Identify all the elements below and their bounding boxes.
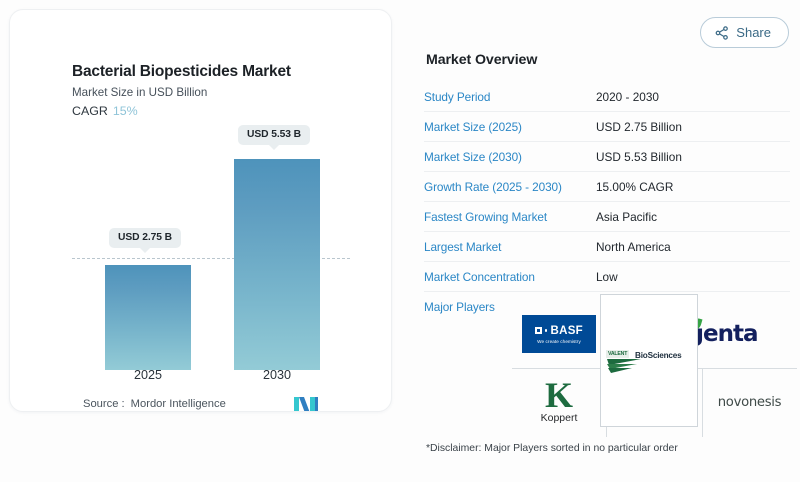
table-row: Market Concentration Low [424,262,790,292]
overview-table: Study Period 2020 - 2030 Market Size (20… [424,82,790,322]
source-label: Source : [83,398,125,410]
koppert-name: Koppert [541,412,578,424]
valent-swoosh-icon [607,358,647,374]
chart-subtitle: Market Size in USD Billion [72,86,207,99]
basf-logo: BASF We create chemistry [522,315,596,353]
major-players-grid: BASF We create chemistry syngenta K Kopp… [512,300,797,437]
bar-chart-plot: USD 2.75 B USD 5.53 B 2025 2030 [10,120,391,370]
row-value: Asia Pacific [596,210,657,224]
market-overview-panel: Market Overview Study Period 2020 - 2030… [424,0,800,482]
cagr-line: CAGR15% [72,104,138,118]
chart-card: Bacterial Biopesticides Market Market Si… [9,9,392,412]
row-key: Growth Rate (2025 - 2030) [424,180,596,194]
cagr-value: 15% [113,104,138,118]
table-row: Market Size (2030) USD 5.53 Billion [424,142,790,172]
x-tick-2030: 2030 [217,368,337,382]
basf-name: BASF [550,325,583,337]
table-row: Largest Market North America [424,232,790,262]
bar-2025[interactable] [105,265,191,370]
x-tick-2025: 2025 [88,368,208,382]
source-note: Source :Mordor Intelligence [83,398,226,410]
table-row: Study Period 2020 - 2030 [424,82,790,112]
table-row: Fastest Growing Market Asia Pacific [424,202,790,232]
row-value: USD 2.75 Billion [596,120,682,134]
chart-title: Bacterial Biopesticides Market [72,63,291,81]
data-label-2030: USD 5.53 B [238,125,310,145]
row-key: Largest Market [424,240,596,254]
page-root: Bacterial Biopesticides Market Market Si… [0,0,800,482]
row-value: USD 5.53 Billion [596,150,682,164]
row-key: Market Concentration [424,270,596,284]
basf-dot-icon [545,329,548,332]
logo-cell-valent-biosciences[interactable]: VALENT BioSciences [600,294,698,427]
row-key: Market Size (2025) [424,120,596,134]
row-value: 2020 - 2030 [596,90,659,104]
table-row: Growth Rate (2025 - 2030) 15.00% CAGR [424,172,790,202]
logo-cell-basf[interactable]: BASF We create chemistry [512,300,606,368]
disclaimer-text: *Disclaimer: Major Players sorted in no … [426,443,678,454]
logo-cell-novonesis[interactable]: novonesis [702,368,797,437]
row-value: Low [596,270,618,284]
koppert-k-icon: K [545,381,573,411]
data-label-2025: USD 2.75 B [109,228,181,248]
row-value: 15.00% CAGR [596,180,673,194]
basf-tagline: We create chemistry [537,339,581,344]
mordor-intelligence-logo-icon [294,397,318,412]
logo-cell-koppert[interactable]: K Koppert [512,368,606,437]
row-value: North America [596,240,671,254]
row-key: Fastest Growing Market [424,210,596,224]
koppert-logo: K Koppert [541,381,578,425]
basf-square-icon [535,327,542,334]
bar-2030[interactable] [234,159,320,370]
cagr-label: CAGR [72,104,108,118]
row-key: Market Size (2030) [424,150,596,164]
source-value: Mordor Intelligence [131,398,226,410]
row-key: Study Period [424,90,596,104]
table-row: Market Size (2025) USD 2.75 Billion [424,112,790,142]
novonesis-logo: novonesis [718,395,781,410]
basf-wordmark: BASF [535,325,583,337]
valent-logo: VALENT BioSciences [605,346,693,376]
valent-tag: VALENT [606,350,629,358]
overview-heading: Market Overview [426,52,537,68]
